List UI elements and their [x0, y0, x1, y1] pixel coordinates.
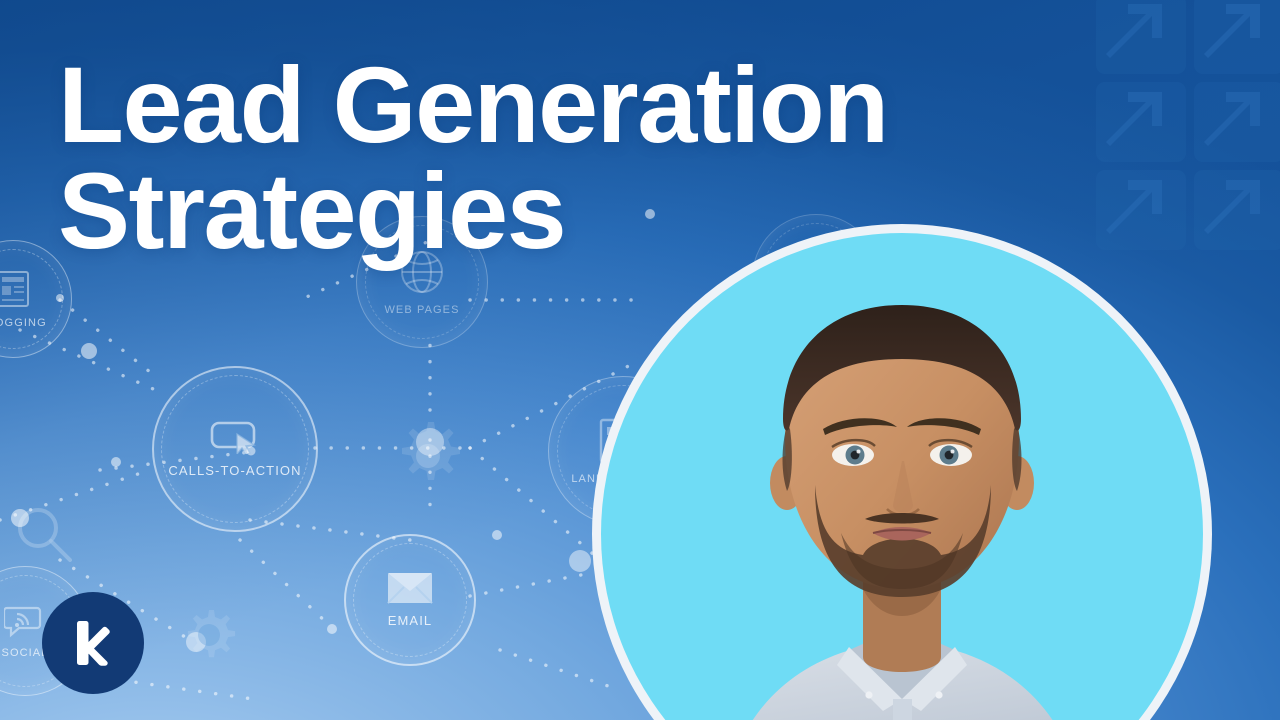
title-line-2: Strategies: [58, 158, 1088, 264]
title-line-1: Lead Generation: [58, 44, 888, 165]
presenter-figure: [601, 233, 1203, 720]
keap-logo[interactable]: [42, 592, 144, 694]
presenter-portrait: [592, 224, 1212, 720]
thumbnail-canvas: BLOGGING WEB PAGES CALLS-TO-ACTION: [0, 0, 1280, 720]
keap-k-logo-icon: [63, 613, 123, 673]
portrait-disc: [601, 233, 1203, 720]
page-title: Lead Generation Strategies: [58, 52, 1088, 264]
